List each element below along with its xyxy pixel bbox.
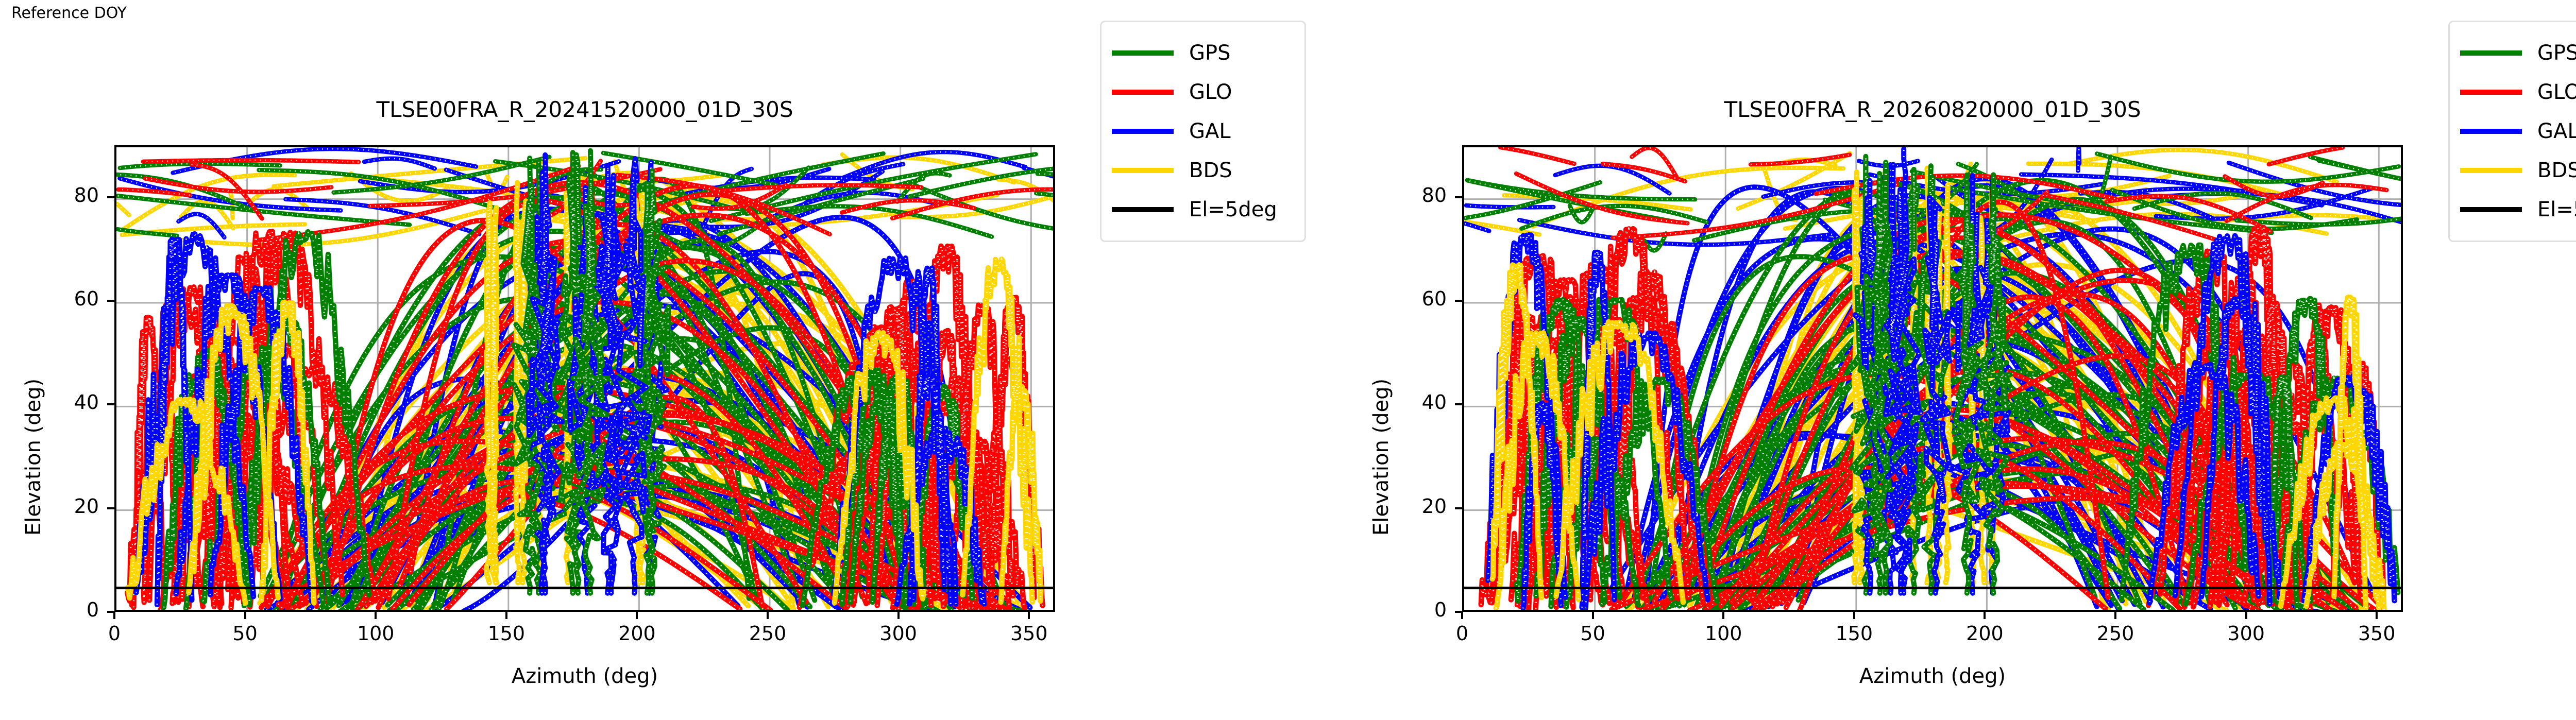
y-tick-mark — [1455, 300, 1462, 302]
panel-right: TLSE00FRA_R_20260820000_01D_30S Elevatio… — [1350, 0, 2576, 720]
plot-title-right: TLSE00FRA_R_20260820000_01D_30S — [1462, 97, 2403, 122]
legend-swatch-icon — [2460, 207, 2522, 212]
skyplot-canvas — [116, 147, 1055, 612]
x-tick-mark — [1461, 612, 1463, 619]
x-tick-mark — [113, 612, 115, 619]
x-tick-label: 50 — [214, 622, 276, 645]
x-tick-mark — [505, 612, 507, 619]
legend-item-gps: GPS — [2460, 33, 2576, 73]
x-tick-label: 100 — [345, 622, 406, 645]
x-tick-label: 0 — [1431, 622, 1493, 645]
y-tick-label: 80 — [42, 184, 99, 207]
y-tick-mark — [1455, 196, 1462, 198]
x-tick-mark — [636, 612, 638, 619]
y-tick-label: 80 — [1390, 184, 1447, 207]
legend-label: El=5deg — [1189, 199, 1277, 220]
plot-axes-left — [114, 145, 1055, 612]
y-tick-label: 60 — [42, 287, 99, 310]
x-tick-mark — [1984, 612, 1986, 619]
y-tick-label: 0 — [42, 598, 99, 621]
plot-axes-right — [1462, 145, 2403, 612]
x-tick-label: 200 — [606, 622, 668, 645]
legend-swatch-icon — [2460, 90, 2522, 95]
legend-item-el-5deg: El=5deg — [1112, 190, 1291, 229]
x-tick-label: 100 — [1692, 622, 1754, 645]
x-tick-label: 300 — [2215, 622, 2277, 645]
plot-title-left: TLSE00FRA_R_20241520000_01D_30S — [114, 97, 1055, 122]
legend-item-glo: GLO — [1112, 73, 1291, 112]
legend-right: GPSGLOGALBDSEl=5deg — [2448, 21, 2576, 242]
x-tick-mark — [767, 612, 769, 619]
legend-swatch-icon — [1112, 129, 1174, 134]
legend-swatch-icon — [1112, 90, 1174, 95]
x-tick-label: 300 — [868, 622, 929, 645]
x-tick-label: 200 — [1954, 622, 2015, 645]
x-tick-label: 250 — [2084, 622, 2146, 645]
legend-label: GAL — [2537, 121, 2576, 142]
x-tick-label: 350 — [998, 622, 1060, 645]
legend-label: GPS — [1189, 43, 1231, 63]
x-tick-mark — [2376, 612, 2378, 619]
x-tick-label: 50 — [1562, 622, 1624, 645]
legend-label: GLO — [2537, 82, 2576, 102]
legend-item-gal: GAL — [2460, 112, 2576, 151]
skyplot-canvas — [1464, 147, 2403, 612]
x-tick-label: 250 — [737, 622, 799, 645]
legend-left: GPSGLOGALBDSEl=5deg — [1100, 21, 1306, 242]
y-tick-label: 20 — [42, 495, 99, 518]
y-tick-mark — [1455, 507, 1462, 509]
x-tick-mark — [2114, 612, 2116, 619]
y-tick-mark — [107, 507, 114, 509]
x-tick-mark — [244, 612, 246, 619]
y-tick-label: 60 — [1390, 287, 1447, 310]
x-axis-label-left: Azimuth (deg) — [114, 664, 1055, 688]
legend-label: GPS — [2537, 43, 2576, 63]
legend-swatch-icon — [2460, 129, 2522, 134]
y-tick-mark — [107, 196, 114, 198]
x-tick-mark — [2245, 612, 2247, 619]
y-tick-mark — [1455, 403, 1462, 405]
x-tick-label: 0 — [83, 622, 145, 645]
legend-label: BDS — [1189, 160, 1232, 181]
x-axis-label-right: Azimuth (deg) — [1462, 664, 2403, 688]
y-tick-mark — [107, 300, 114, 302]
legend-item-bds: BDS — [1112, 151, 1291, 190]
y-tick-label: 20 — [1390, 495, 1447, 518]
legend-item-gal: GAL — [1112, 112, 1291, 151]
skyplot-figure: Reference DOY TLSE00FRA_R_20241520000_01… — [0, 0, 2576, 720]
legend-label: GLO — [1189, 82, 1232, 102]
satellite-tracks — [117, 149, 1055, 612]
x-tick-mark — [1722, 612, 1724, 619]
x-tick-label: 150 — [1823, 622, 1885, 645]
legend-item-bds: BDS — [2460, 151, 2576, 190]
x-tick-mark — [897, 612, 900, 619]
legend-label: El=5deg — [2537, 199, 2576, 220]
satellite-tracks — [1465, 147, 2403, 612]
legend-item-glo: GLO — [2460, 73, 2576, 112]
x-tick-label: 350 — [2346, 622, 2408, 645]
x-tick-mark — [1592, 612, 1594, 619]
y-tick-mark — [107, 403, 114, 405]
legend-item-el-5deg: El=5deg — [2460, 190, 2576, 229]
x-tick-mark — [1853, 612, 1855, 619]
x-tick-label: 150 — [476, 622, 537, 645]
y-tick-label: 40 — [42, 391, 99, 414]
y-tick-label: 0 — [1390, 598, 1447, 621]
x-tick-mark — [375, 612, 377, 619]
legend-swatch-icon — [1112, 50, 1174, 56]
legend-swatch-icon — [1112, 207, 1174, 212]
legend-label: GAL — [1189, 121, 1231, 142]
legend-swatch-icon — [2460, 168, 2522, 173]
y-tick-label: 40 — [1390, 391, 1447, 414]
x-tick-mark — [1028, 612, 1030, 619]
legend-item-gps: GPS — [1112, 33, 1291, 73]
legend-swatch-icon — [2460, 50, 2522, 56]
legend-label: BDS — [2537, 160, 2576, 181]
legend-swatch-icon — [1112, 168, 1174, 173]
